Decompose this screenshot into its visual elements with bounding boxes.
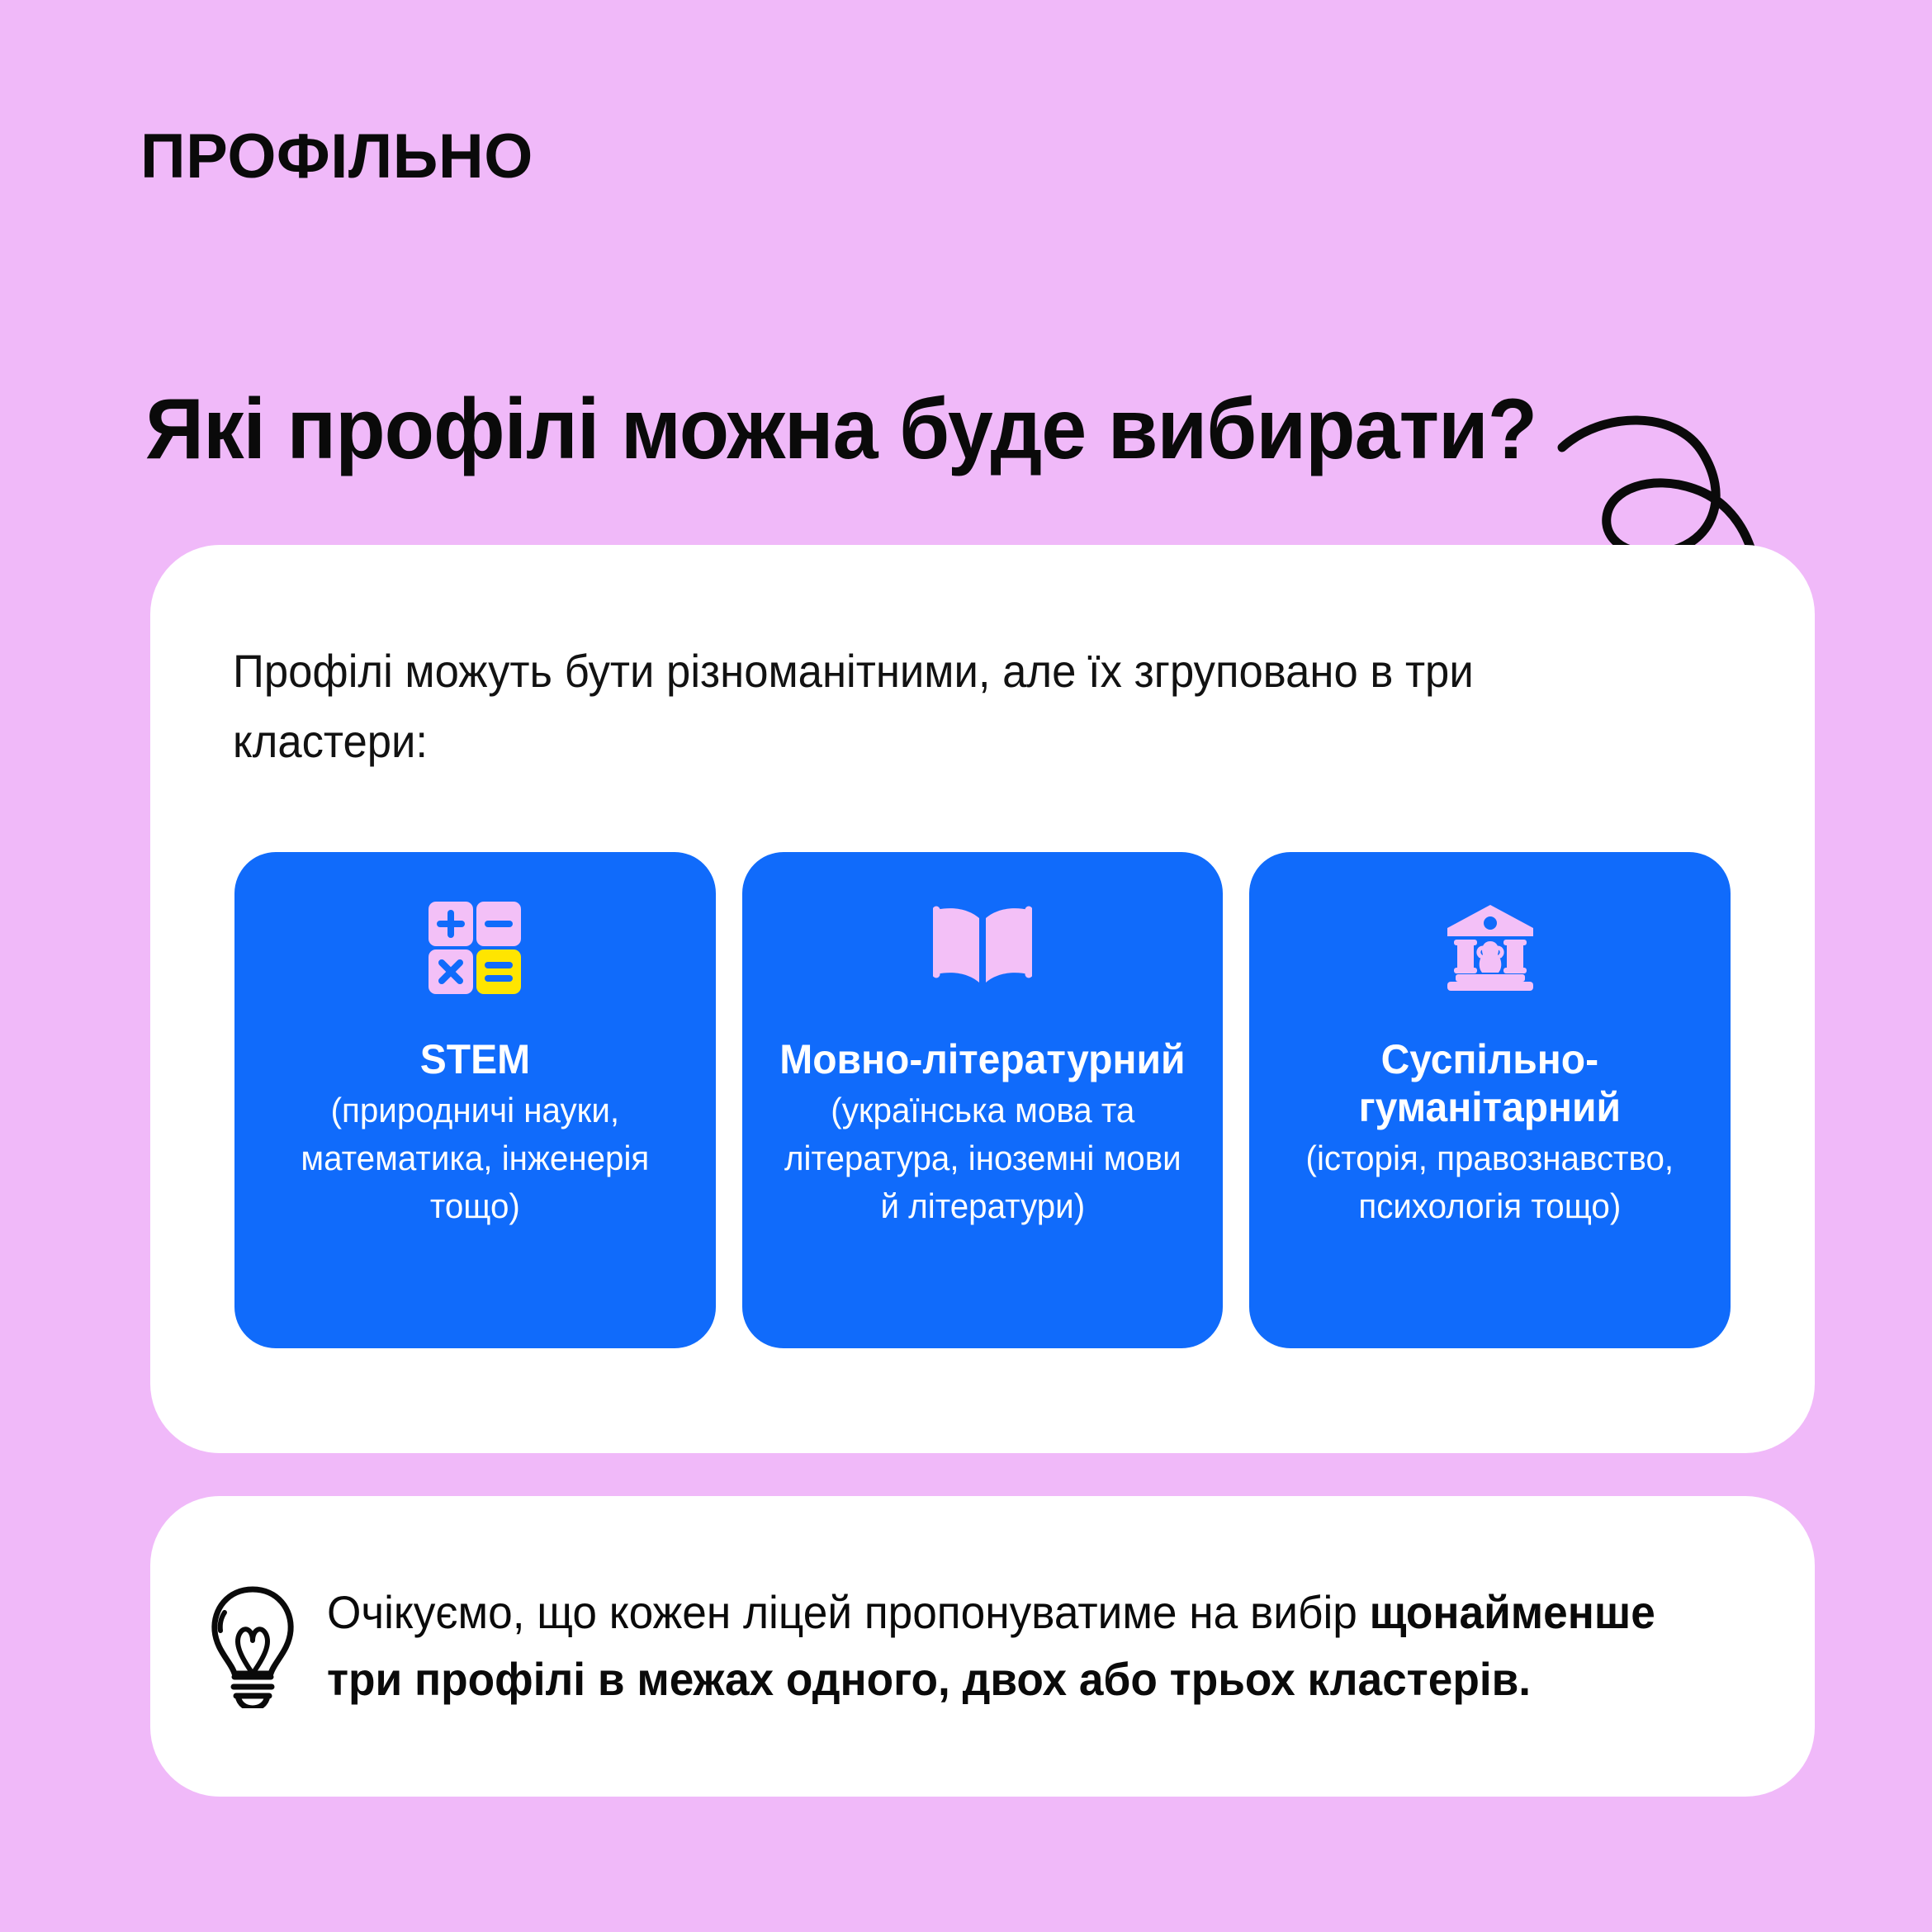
intro-paragraph: Профілі можуть бути різноманітними, але … [233,636,1506,776]
open-book-icon [933,897,1032,999]
page-title: Які профілі можна буде вибирати? [145,384,1651,475]
museum-building-icon [1444,897,1537,999]
cluster-title: STEM [404,1035,546,1083]
clusters-grid: STEM (природничі науки, математика, інже… [234,852,1731,1348]
brand-logo: ПРОФІЛЬНО [140,125,533,188]
cluster-card-humanities[interactable]: Суспільно-гуманітарний (історія, правозн… [1249,852,1731,1348]
poster-canvas: ПРОФІЛЬНО Які профілі можна буде вибират… [0,0,1932,1932]
lightbulb-icon [206,1584,299,1708]
cluster-title: Мовно-літературний [764,1035,1201,1083]
cluster-card-language[interactable]: Мовно-літературний (українська мова та л… [742,852,1224,1348]
clusters-card: Профілі можуть бути різноманітними, але … [150,545,1815,1453]
cluster-subtitle: (природничі науки, математика, інженерія… [244,1087,706,1230]
brand-logo-text: ПРОФІЛЬНО [140,125,533,188]
calculator-icon [427,897,523,999]
note-text-plain: Очікуємо, що кожен ліцей пропонуватиме н… [327,1586,1370,1638]
note-card: Очікуємо, що кожен ліцей пропонуватиме н… [150,1496,1815,1797]
note-text: Очікуємо, що кожен ліцей пропонуватиме н… [327,1579,1674,1712]
cluster-subtitle: (українська мова та література, іноземні… [751,1087,1213,1230]
cluster-subtitle: (історія, правознавство, психологія тощо… [1259,1134,1721,1230]
cluster-title: Суспільно-гуманітарний [1259,1035,1721,1131]
cluster-card-stem[interactable]: STEM (природничі науки, математика, інже… [234,852,716,1348]
note-row: Очікуємо, що кожен ліцей пропонуватиме н… [150,1496,1815,1797]
